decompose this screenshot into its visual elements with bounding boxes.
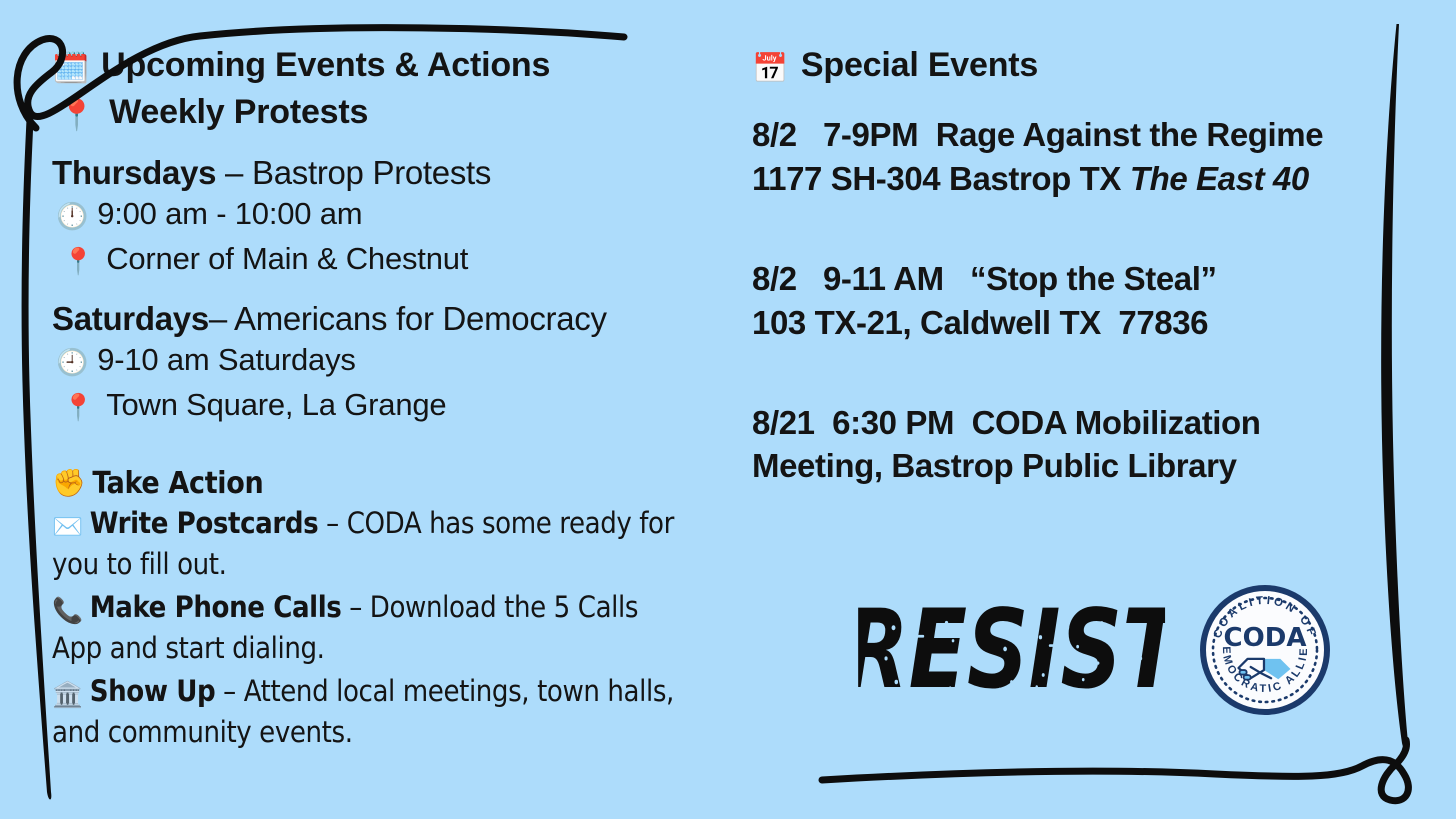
special-event-entry: 8/21 6:30 PM CODA Mobilization Meeting, … (752, 401, 1412, 489)
resist-wordmark: RESIST (847, 590, 1177, 710)
envelope-icon: ✉️ (52, 514, 83, 539)
protest-day: Saturdays (52, 300, 209, 337)
special-event-entry: 8/2 9-11 AM “Stop the Steal” 103 TX-21, … (752, 257, 1412, 345)
protest-name: Bastrop Protests (252, 154, 491, 191)
heading-special-events-label: Special Events (801, 46, 1038, 85)
action-item-label: Show Up (90, 674, 216, 708)
heading-weekly-protests-label: Weekly Protests (109, 93, 368, 132)
clock-twelve-icon: 🕛 (56, 204, 88, 230)
take-action-section: ✊ Take Action ✉️Write Postcards – CODA h… (52, 466, 702, 754)
heading-upcoming-events-label: Upcoming Events & Actions (101, 46, 550, 85)
round-pushpin-icon: 📍 (62, 249, 94, 275)
special-event-venue: The East 40 (1130, 160, 1309, 197)
action-item-make-phone-calls: 📞Make Phone Calls – Download the 5 Calls… (52, 587, 677, 669)
protest-location-row: 📍 Corner of Main & Chestnut (62, 237, 702, 282)
action-item-show-up: 🏛️Show Up – Attend local meetings, town … (52, 671, 677, 753)
protest-location: Town Square, La Grange (106, 383, 446, 428)
special-event-address: Meeting, Bastrop Public Library (752, 447, 1237, 484)
classical-building-icon: 🏛️ (52, 682, 83, 707)
round-pushpin-icon: 📍 (58, 101, 95, 131)
round-pushpin-icon: 📍 (62, 395, 94, 421)
telephone-receiver-icon: 📞 (52, 598, 83, 623)
protest-entry-saturdays: Saturdays– Americans for Democracy 🕘 9-1… (52, 300, 702, 428)
left-column: 🗓️ Upcoming Events & Actions 📍 Weekly Pr… (52, 0, 702, 754)
heading-weekly-protests: 📍 Weekly Protests (52, 93, 702, 132)
resist-wordmark-text: RESIST (847, 590, 1177, 710)
protest-title: Thursdays – Bastrop Protests (52, 154, 702, 192)
take-action-heading-label: Take Action (92, 466, 263, 501)
protest-name: Americans for Democracy (234, 300, 607, 337)
seal-center-text: CODA (1224, 623, 1307, 653)
protest-day: Thursdays (52, 154, 216, 191)
protest-time: 9:00 am - 10:00 am (97, 192, 362, 237)
coda-seal-logo: COALITION OF DEMOCRATIC ALLIES CODA (1199, 584, 1331, 716)
protest-time-row: 🕘 9-10 am Saturdays (56, 338, 702, 383)
spiral-calendar-icon: 🗓️ (52, 54, 89, 84)
protest-location: Corner of Main & Chestnut (106, 237, 468, 282)
protest-time-row: 🕛 9:00 am - 10:00 am (56, 192, 702, 237)
action-item-write-postcards: ✉️Write Postcards – CODA has some ready … (52, 503, 677, 585)
action-item-label: Make Phone Calls (90, 590, 342, 624)
border-left-edge (22, 120, 52, 800)
protest-entry-thursdays: Thursdays – Bastrop Protests 🕛 9:00 am -… (52, 154, 702, 282)
action-item-label: Write Postcards (90, 506, 319, 540)
flyer-canvas: 🗓️ Upcoming Events & Actions 📍 Weekly Pr… (0, 0, 1456, 819)
brand-row: RESIST COALITION OF DEMOCRATIC ALLIES CO (752, 570, 1412, 730)
protest-location-row: 📍 Town Square, La Grange (62, 383, 702, 428)
special-event-entry: 8/2 7-9PM Rage Against the Regime 1177 S… (752, 113, 1412, 201)
raised-fist-icon: ✊ (52, 470, 85, 497)
special-event-line1: 8/2 7-9PM Rage Against the Regime (752, 116, 1323, 153)
protest-title: Saturdays– Americans for Democracy (52, 300, 702, 338)
special-event-line1: 8/21 6:30 PM CODA Mobilization (752, 404, 1261, 441)
protest-time: 9-10 am Saturdays (97, 338, 356, 383)
heading-upcoming-events: 🗓️ Upcoming Events & Actions (52, 46, 702, 85)
heading-special-events: 📅 Special Events (752, 46, 1412, 85)
special-event-address: 103 TX-21, Caldwell TX 77836 (752, 304, 1208, 341)
tear-off-calendar-icon: 📅 (752, 54, 788, 83)
special-event-line1: 8/2 9-11 AM “Stop the Steal” (752, 260, 1217, 297)
take-action-heading: ✊ Take Action (52, 466, 702, 501)
right-column: 📅 Special Events 8/2 7-9PM Rage Against … (752, 0, 1412, 488)
clock-nine-icon: 🕘 (56, 350, 88, 376)
protest-separator: – (209, 300, 234, 337)
protest-separator: – (216, 154, 252, 191)
border-bottom-right-loop (822, 740, 1408, 801)
special-event-address: 1177 SH-304 Bastrop TX (752, 160, 1130, 197)
